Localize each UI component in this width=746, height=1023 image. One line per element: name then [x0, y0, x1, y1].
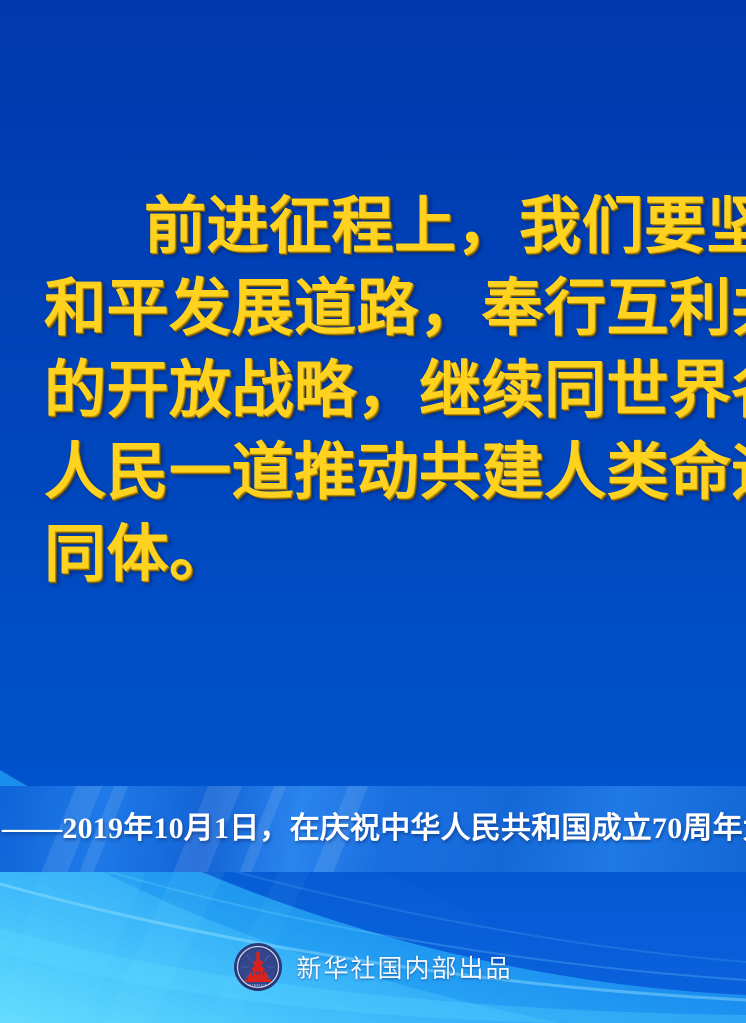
attribution-band: ——2019年10月1日，在庆祝中华人民共和国成立70周年大会上的讲话: [0, 786, 746, 872]
svg-text:XINHUA: XINHUA: [249, 983, 268, 988]
quote-block: 前进征程上，我们要坚持 和平发展道路，奉行互利共赢 的开放战略，继续同世界各国 …: [0, 186, 746, 596]
footer: XINHUA 新华社国内部出品: [0, 932, 746, 1002]
publisher-label: 新华社国内部出品: [296, 949, 512, 985]
xinhua-agency-logo-icon: XINHUA: [233, 942, 283, 992]
quote-line-2: 和平发展道路，奉行互利共赢: [44, 268, 736, 350]
quote-line-5: 同体。: [44, 514, 736, 596]
poster-canvas: 前进征程上，我们要坚持 和平发展道路，奉行互利共赢 的开放战略，继续同世界各国 …: [0, 0, 746, 1023]
quote-line-4: 人民一道推动共建人类命运共: [44, 432, 736, 514]
quote-line-1: 前进征程上，我们要坚持: [44, 186, 736, 268]
quote-line-3: 的开放战略，继续同世界各国: [44, 350, 736, 432]
attribution-text: ——2019年10月1日，在庆祝中华人民共和国成立70周年大会上的讲话: [2, 812, 746, 846]
